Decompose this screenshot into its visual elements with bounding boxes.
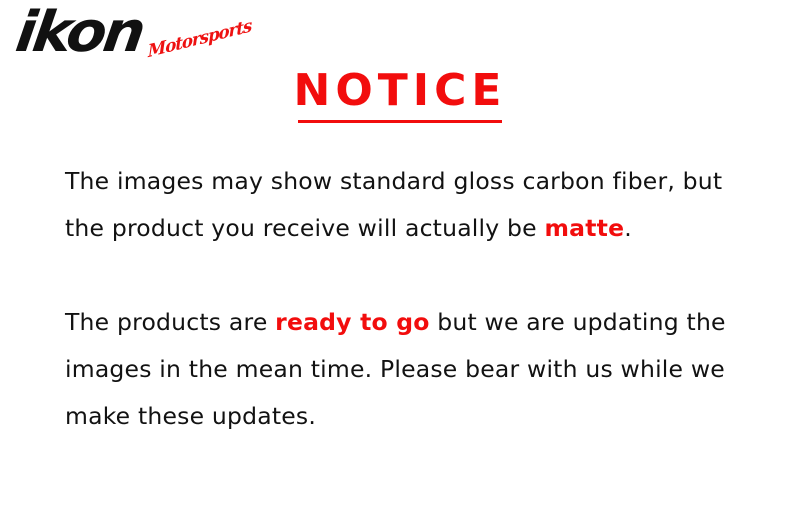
paragraph-2-highlight: ready to go (275, 308, 429, 336)
notice-header: NOTICE (0, 66, 800, 123)
paragraph-2-text-lead: The products are (65, 308, 275, 336)
notice-paragraph-2: The products are ready to go but we are … (65, 299, 765, 440)
notice-body: The images may show standard gloss carbo… (65, 158, 765, 440)
title-underline (298, 120, 502, 123)
paragraph-1-highlight: matte (544, 214, 624, 242)
page-title: NOTICE (290, 66, 511, 116)
brand-logo-wordmark: ikon (12, 2, 146, 64)
notice-paragraph-1: The images may show standard gloss carbo… (65, 158, 765, 252)
paragraph-1-text-tail: . (624, 214, 632, 242)
brand-logo: ikon Motorsports (8, 4, 248, 70)
brand-logo-tagline: Motorsports (148, 16, 252, 62)
notice-banner: { "brand": { "logo_primary": "ikon", "lo… (0, 0, 800, 510)
